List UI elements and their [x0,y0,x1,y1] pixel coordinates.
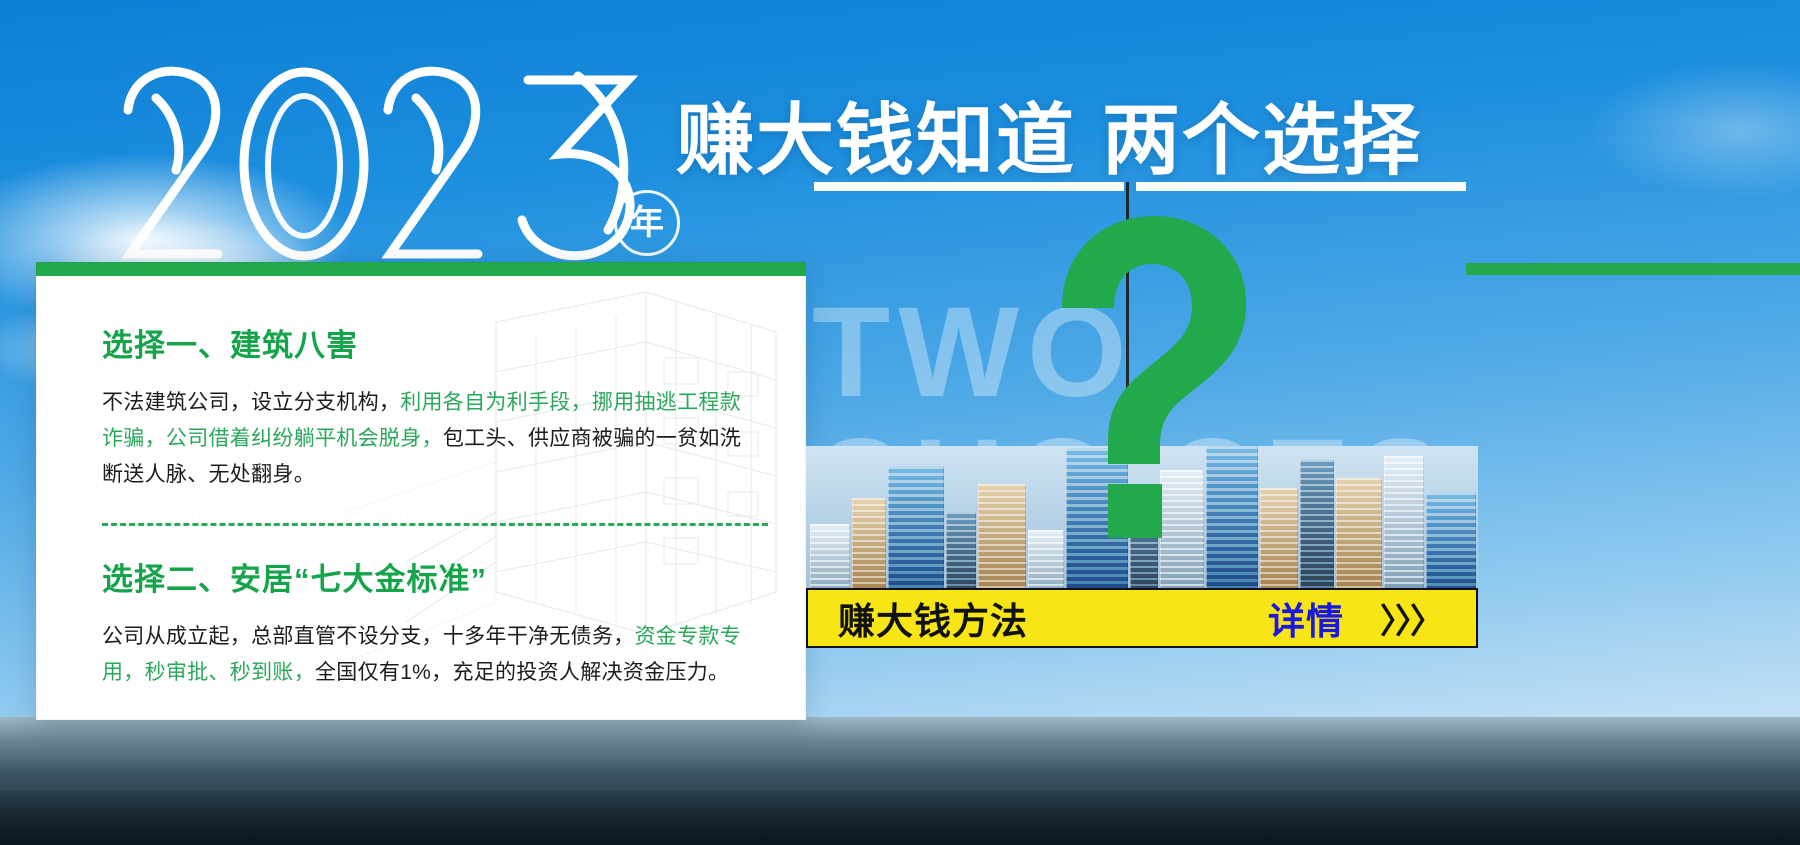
body-line: 断送人脉、无处翻身。 [102,457,768,493]
body-span-green: 资金专款专 [635,625,742,648]
content-card: 选择一、建筑八害 不法建筑公司，设立分支机构，利用各自为利手段，挪用抽逃工程款 … [36,262,806,720]
body-line: 用，秒审批、秒到账，全国仅有1%，充足的投资人解决资金压力。 [102,655,768,691]
body-span-black: 不法建筑公司，设立分支机构， [102,391,400,414]
chevron-right-icon: 〉〉〉 [1380,594,1446,643]
cta-detail-label: 详情 [1268,591,1344,645]
body-span-green: 用，秒审批、秒到账， [102,661,315,684]
section-title: 选择二、安居“七大金标准” [102,554,768,599]
card-green-topbar [36,262,806,276]
bottom-skyline-photo [0,717,1800,845]
body-span-black: 全国仅有1%，充足的投资人解决资金压力。 [315,661,729,684]
body-span-black: 断送人脉、无处翻身。 [102,463,315,486]
green-accent-bar-right [1466,263,1800,275]
card-section-2: 选择二、安居“七大金标准” 公司从成立起，总部直管不设分支，十多年干净无债务，资… [102,554,768,691]
year-2023-graphic [108,58,708,273]
water-reflection [0,791,1800,845]
body-line: 不法建筑公司，设立分支机构，利用各自为利手段，挪用抽逃工程款 [102,385,768,421]
body-line: 公司从成立起，总部直管不设分支，十多年干净无债务，资金专款专 [102,619,768,655]
body-span-black: 公司从成立起，总部直管不设分支，十多年干净无债务， [102,625,635,648]
question-mark-icon [1034,212,1264,552]
section-title: 选择一、建筑八害 [102,320,768,365]
body-span-green: 诈骗，公司借着纠纷躺平机会脱身， [102,427,443,450]
body-span-green: 利用各自为利手段，挪用抽逃工程款 [400,391,741,414]
headline-part-1: 赚大钱知道 [676,96,1076,184]
right-visual-panel: TWO CHOICES [806,196,1478,616]
cta-button[interactable]: 赚大钱方法 详情 〉〉〉 [806,588,1478,648]
headline-rule-left [814,182,1124,191]
cloud-shape [1580,60,1800,200]
section-body: 公司从成立起，总部直管不设分支，十多年干净无债务，资金专款专 用，秒审批、秒到账… [102,619,768,691]
headline-rule-right [1136,182,1466,191]
section-body: 不法建筑公司，设立分支机构，利用各自为利手段，挪用抽逃工程款 诈骗，公司借着纠纷… [102,385,768,493]
cta-main-label: 赚大钱方法 [838,591,1028,645]
page-title: 赚大钱知道两个选择 [676,78,1422,190]
headline-part-2: 两个选择 [1102,96,1422,184]
card-section-1: 选择一、建筑八害 不法建筑公司，设立分支机构，利用各自为利手段，挪用抽逃工程款 … [102,320,768,493]
dashed-divider [102,523,768,526]
year-unit-badge: 年 [614,190,680,256]
body-span-black: 包工头、供应商被骗的一贫如洗 [443,427,741,450]
body-line: 诈骗，公司借着纠纷躺平机会脱身，包工头、供应商被骗的一贫如洗 [102,421,768,457]
